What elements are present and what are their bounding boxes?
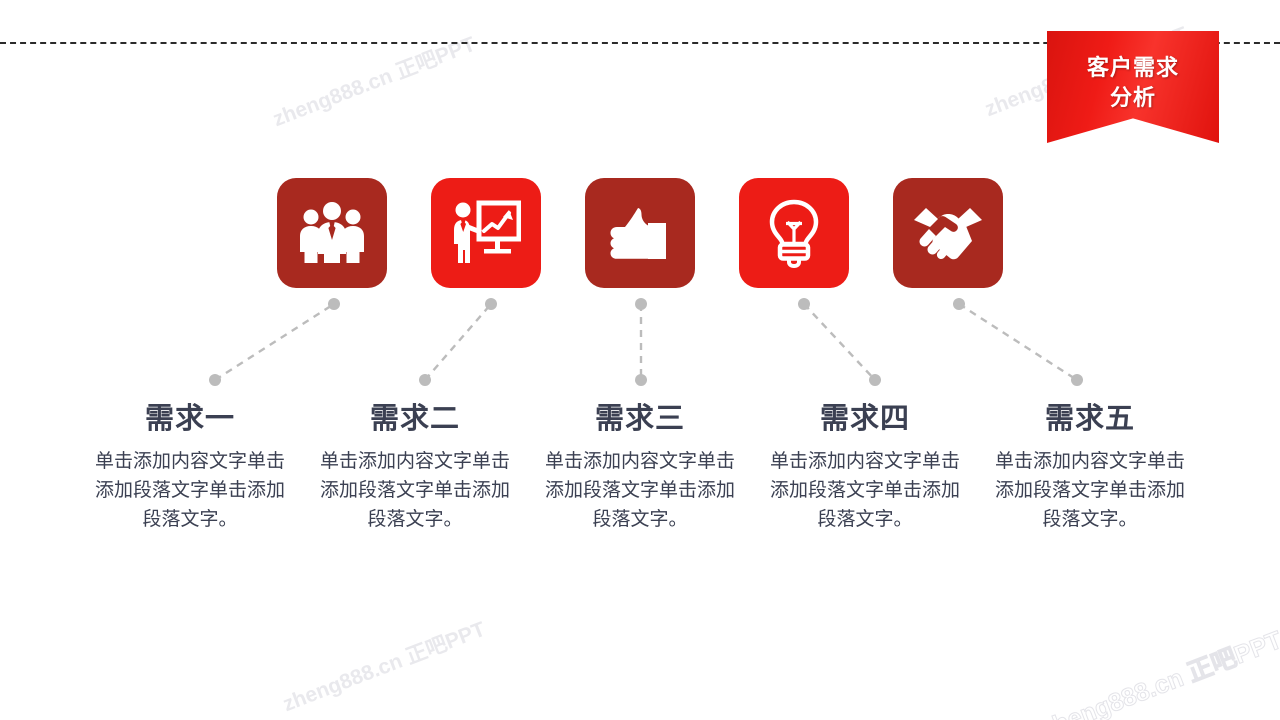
icon-tile-2[interactable]	[431, 178, 541, 288]
banner-line-1: 客户需求	[1087, 55, 1179, 80]
connector-line-1	[205, 295, 345, 390]
column-title: 需求四	[765, 400, 965, 438]
column-body: 单击添加内容文字单击添加段落文字单击添加段落文字。	[540, 447, 740, 534]
connector-line-3	[630, 295, 654, 390]
content-column-2: 需求二 单击添加内容文字单击添加段落文字单击添加段落文字。	[315, 400, 515, 534]
banner-line-2: 分析	[1110, 85, 1156, 110]
content-column-4: 需求四 单击添加内容文字单击添加段落文字单击添加段落文字。	[765, 400, 965, 534]
icon-tile-4[interactable]	[739, 178, 849, 288]
presentation-chart-icon	[451, 200, 521, 266]
watermark: zheng888.cn 正吧PPT	[278, 613, 489, 718]
thumbs-up-icon	[607, 204, 673, 262]
handshake-icon	[912, 205, 984, 261]
watermark: zheng888.cn 正吧PPT	[1035, 620, 1280, 720]
column-body: 单击添加内容文字单击添加段落文字单击添加段落文字。	[765, 447, 965, 534]
icon-tile-5[interactable]	[893, 178, 1003, 288]
icon-tile-3[interactable]	[585, 178, 695, 288]
column-body: 单击添加内容文字单击添加段落文字单击添加段落文字。	[315, 447, 515, 534]
column-body: 单击添加内容文字单击添加段落文字单击添加段落文字。	[990, 447, 1190, 534]
connector-line-2	[415, 295, 505, 390]
group-people-icon	[299, 202, 365, 264]
column-title: 需求三	[540, 400, 740, 438]
column-title: 需求一	[90, 400, 290, 438]
banner-text: 客户需求 分析	[1047, 53, 1219, 113]
title-banner: 客户需求 分析	[1047, 31, 1219, 143]
content-column-5: 需求五 单击添加内容文字单击添加段落文字单击添加段落文字。	[990, 400, 1190, 534]
icon-tile-1[interactable]	[277, 178, 387, 288]
connector-line-5	[950, 295, 1090, 390]
content-column-1: 需求一 单击添加内容文字单击添加段落文字单击添加段落文字。	[90, 400, 290, 534]
slide-canvas: zheng888.cn 正吧PPT zheng888.cn 正吧PPT zhen…	[0, 0, 1280, 720]
connector-line-4	[795, 295, 890, 390]
content-column-3: 需求三 单击添加内容文字单击添加段落文字单击添加段落文字。	[540, 400, 740, 534]
column-title: 需求二	[315, 400, 515, 438]
column-body: 单击添加内容文字单击添加段落文字单击添加段落文字。	[90, 447, 290, 534]
lightbulb-icon	[765, 198, 823, 268]
column-title: 需求五	[990, 400, 1190, 438]
